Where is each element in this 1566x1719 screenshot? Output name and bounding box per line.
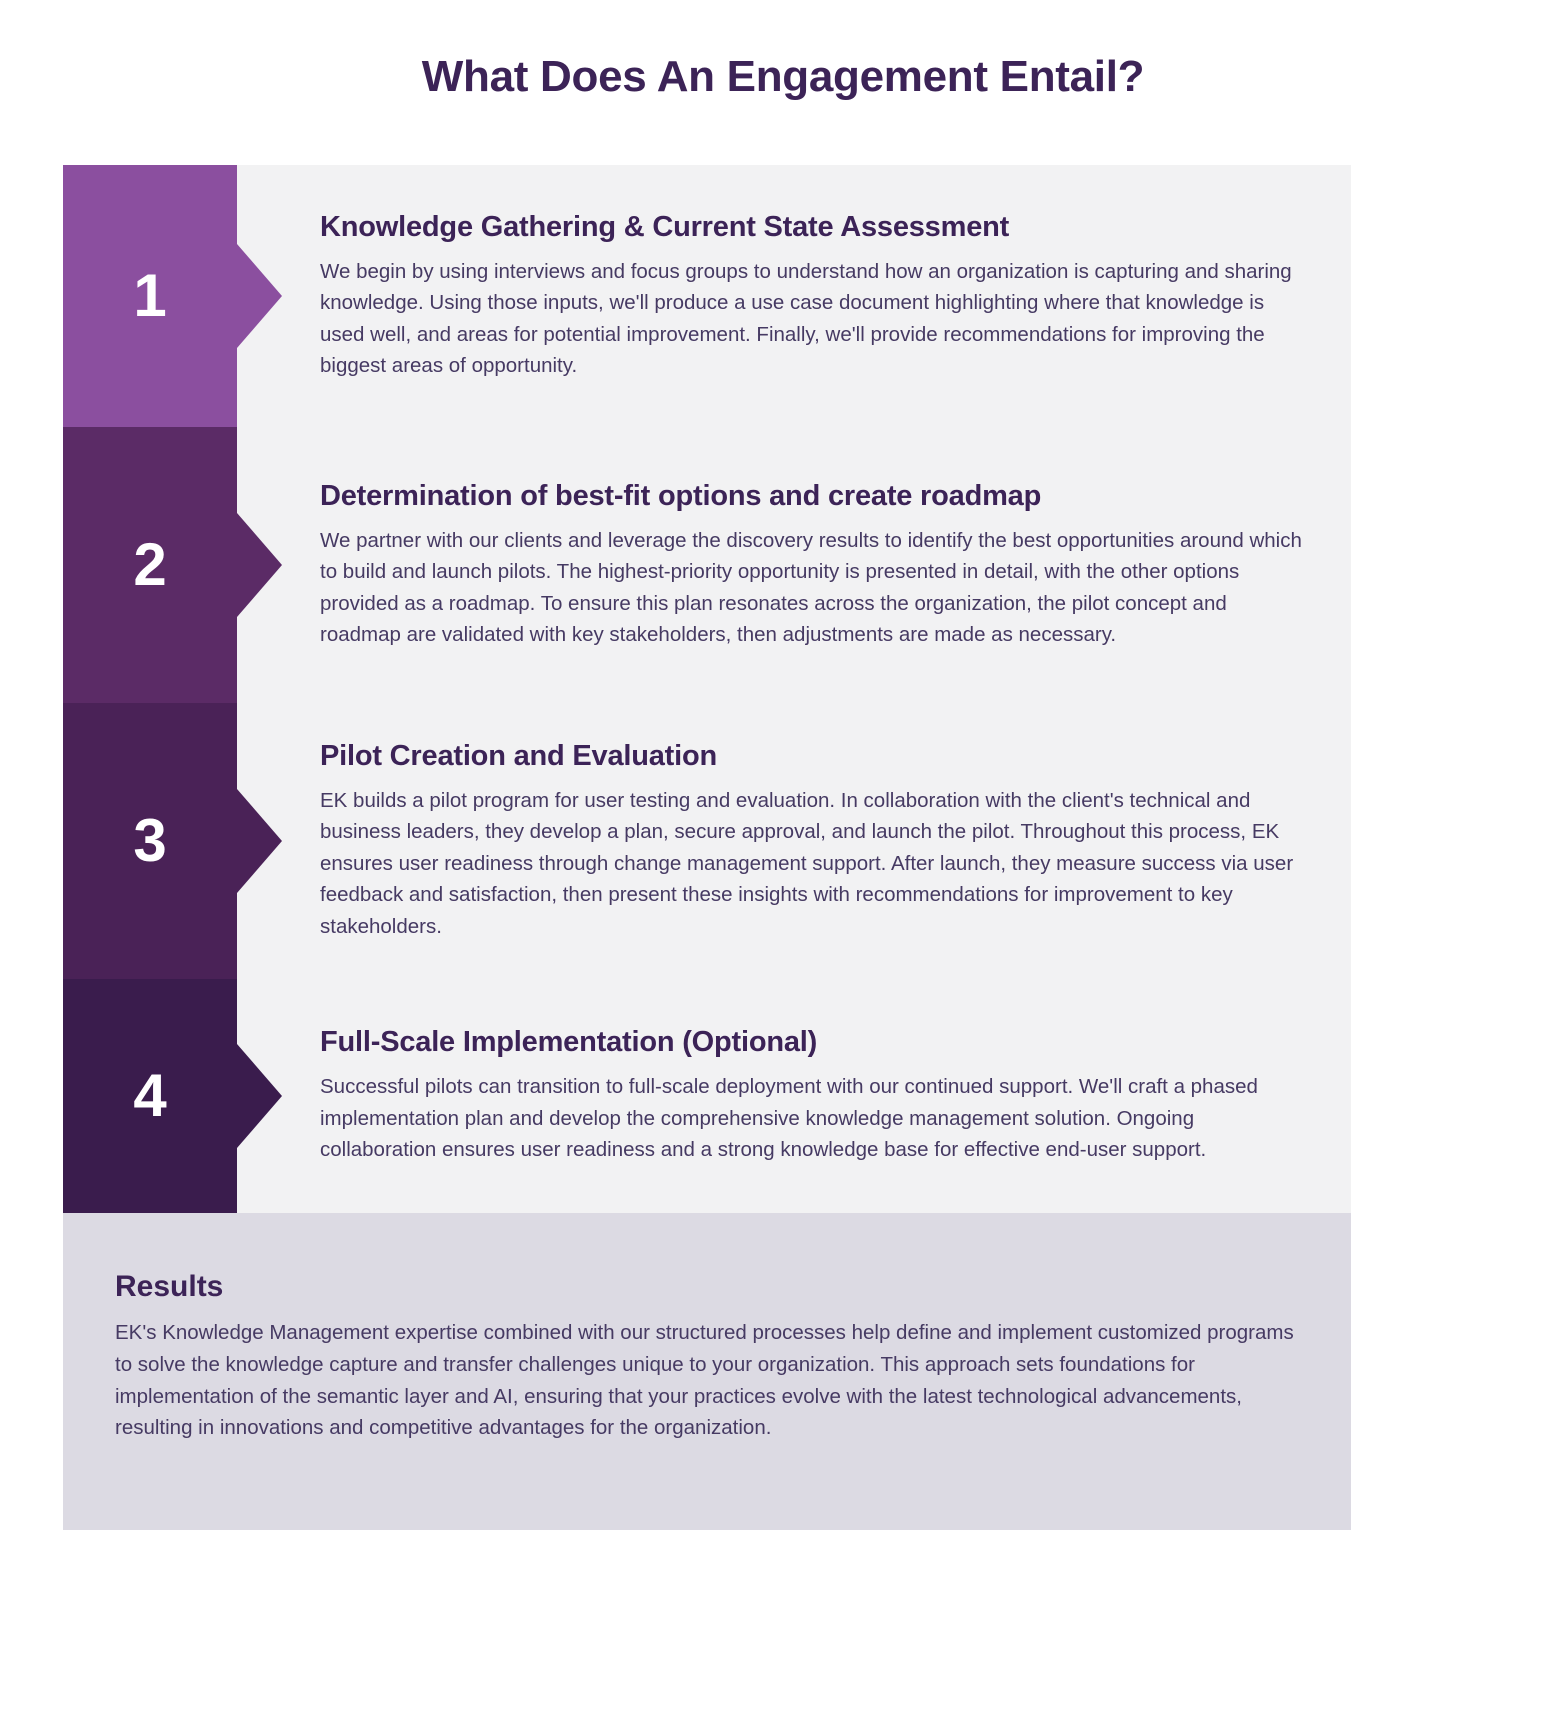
results-title: Results — [115, 1270, 1299, 1304]
step-number-block-3: 3 — [63, 703, 237, 979]
step-description: We begin by using interviews and focus g… — [320, 256, 1307, 381]
page-title: What Does An Engagement Entail? — [0, 0, 1566, 102]
step-title: Full-Scale Implementation (Optional) — [320, 1026, 1307, 1059]
step-title: Determination of best-fit options and cr… — [320, 480, 1307, 513]
step-row: 4 Full-Scale Implementation (Optional) S… — [63, 979, 1351, 1213]
step-description: Successful pilots can transition to full… — [320, 1071, 1307, 1165]
step-number-label: 2 — [133, 535, 166, 595]
step-title: Pilot Creation and Evaluation — [320, 740, 1307, 773]
results-description: EK's Knowledge Management expertise comb… — [115, 1317, 1299, 1444]
step-content-4: Full-Scale Implementation (Optional) Suc… — [237, 979, 1351, 1213]
step-number-label: 4 — [133, 1066, 166, 1126]
step-title: Knowledge Gathering & Current State Asse… — [320, 211, 1307, 244]
step-content-1: Knowledge Gathering & Current State Asse… — [237, 165, 1351, 427]
results-section: Results EK's Knowledge Management expert… — [63, 1213, 1351, 1530]
step-number-label: 1 — [133, 266, 166, 326]
step-content-2: Determination of best-fit options and cr… — [237, 427, 1351, 703]
step-description: We partner with our clients and leverage… — [320, 525, 1307, 650]
steps-panel: 1 Knowledge Gathering & Current State As… — [63, 165, 1351, 1213]
step-row: 1 Knowledge Gathering & Current State As… — [63, 165, 1351, 427]
step-content-3: Pilot Creation and Evaluation EK builds … — [237, 703, 1351, 979]
step-number-block-1: 1 — [63, 165, 237, 427]
step-row: 2 Determination of best-fit options and … — [63, 427, 1351, 703]
step-number-block-4: 4 — [63, 979, 237, 1213]
step-description: EK builds a pilot program for user testi… — [320, 785, 1307, 942]
step-number-label: 3 — [133, 811, 166, 871]
infographic-page: What Does An Engagement Entail? 1 Knowle… — [0, 0, 1566, 1719]
step-row: 3 Pilot Creation and Evaluation EK build… — [63, 703, 1351, 979]
step-number-block-2: 2 — [63, 427, 237, 703]
